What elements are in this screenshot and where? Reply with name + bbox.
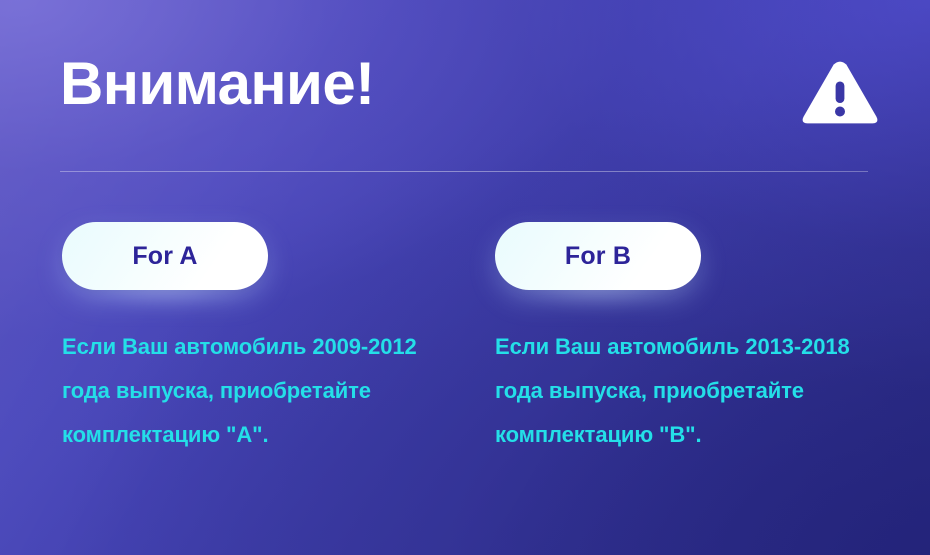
page-title: Внимание! — [60, 52, 375, 115]
pill-button-for-a[interactable]: For A — [62, 222, 268, 290]
pill-wrapper-for-a: For A — [62, 222, 268, 290]
option-description-for-a: Если Ваш автомобиль 2009-2012 года выпус… — [62, 325, 454, 457]
option-column-for-b: For B — [495, 222, 701, 290]
option-description-for-b: Если Ваш автомобиль 2013-2018 года выпус… — [495, 325, 887, 457]
pill-button-for-b[interactable]: For B — [495, 222, 701, 290]
header-divider — [60, 171, 868, 172]
option-column-for-a: For A — [62, 222, 268, 290]
pill-wrapper-for-b: For B — [495, 222, 701, 290]
warning-banner: Внимание! For A Если Ваш автомобиль 2009… — [0, 0, 930, 555]
warning-triangle-icon — [801, 60, 879, 130]
